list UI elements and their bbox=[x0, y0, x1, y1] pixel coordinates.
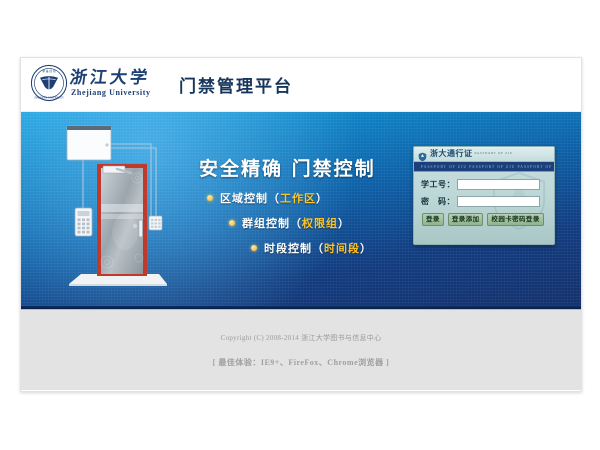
login-panel-subtitle: PASSPORT OF ZJU bbox=[475, 152, 514, 155]
shield-icon bbox=[418, 149, 427, 159]
login-add-button[interactable]: 登录添加 bbox=[448, 213, 484, 226]
site-footer: Copyright (C) 2008-2014 浙江大学图书与信息中心 [ 最佳… bbox=[21, 309, 581, 390]
feature-item-group-control: 群组控制（权限组） bbox=[229, 215, 372, 231]
feature-item-area-control: 区域控制（工作区） bbox=[207, 190, 372, 206]
password-label: 密 码： bbox=[421, 196, 457, 207]
svg-text:求 是 创 新: 求 是 创 新 bbox=[42, 69, 56, 73]
feature-accent: 工作区 bbox=[280, 190, 316, 206]
password-field[interactable] bbox=[457, 196, 540, 207]
feature-label: 区域控制（ bbox=[220, 190, 280, 206]
browser-compatibility-note: [ 最佳体验：IE9+、FireFox、Chrome浏览器 ] bbox=[213, 357, 390, 368]
feature-accent: 时间段 bbox=[324, 240, 360, 256]
login-form: 学工号： 密 码： 登录 登录添加 校园卡密码登录 bbox=[414, 172, 554, 226]
zju-seal-icon: 求 是 创 新 ZHEJIANG UNIVERSITY bbox=[30, 64, 68, 102]
banner-slogan: 安全精确 门禁控制 bbox=[199, 154, 376, 181]
dot-icon bbox=[251, 245, 257, 251]
feature-accent: 权限组 bbox=[302, 215, 338, 231]
logo-chinese-name: 浙江大学 bbox=[69, 69, 152, 86]
page-title: 门禁管理平台 bbox=[179, 72, 293, 97]
university-logo[interactable]: 求 是 创 新 ZHEJIANG UNIVERSITY 浙江大学 Zhejian… bbox=[30, 64, 151, 102]
feature-label: 群组控制（ bbox=[242, 215, 302, 231]
svg-text:ZHEJIANG UNIVERSITY: ZHEJIANG UNIVERSITY bbox=[34, 97, 64, 100]
banner-bottom-divider bbox=[21, 306, 581, 309]
login-panel-title: 浙大通行证 bbox=[430, 150, 473, 158]
feature-item-time-control: 时段控制（时间段） bbox=[251, 240, 372, 256]
dot-icon bbox=[229, 220, 235, 226]
login-button-row: 登录 登录添加 校园卡密码登录 bbox=[414, 213, 554, 226]
password-row: 密 码： bbox=[414, 196, 554, 207]
dot-icon bbox=[207, 195, 213, 201]
feature-tail: ） bbox=[360, 240, 372, 256]
passport-strip-text: PASSPORT OF ZJU PASSPORT OF ZJU PASSPORT… bbox=[414, 165, 554, 169]
login-panel-header: 浙大通行证 PASSPORT OF ZJU bbox=[414, 147, 554, 162]
logo-text-block: 浙江大学 Zhejiang University bbox=[68, 69, 151, 97]
copyright-text: Copyright (C) 2008-2014 浙江大学图书与信息中心 bbox=[221, 333, 382, 343]
feature-tail: ） bbox=[316, 190, 328, 206]
login-panel: 浙大通行证 PASSPORT OF ZJU PASSPORT OF ZJU PA… bbox=[413, 146, 555, 245]
feature-list: 区域控制（工作区） 群组控制（权限组） 时段控制（时间段） bbox=[207, 190, 372, 265]
logo-english-name: Zhejiang University bbox=[71, 89, 151, 97]
student-staff-id-row: 学工号： bbox=[414, 179, 554, 190]
access-control-door-illustration bbox=[55, 120, 185, 300]
login-button[interactable]: 登录 bbox=[422, 213, 444, 226]
feature-label: 时段控制（ bbox=[264, 240, 324, 256]
student-staff-id-field[interactable] bbox=[457, 179, 540, 190]
page-container: 求 是 创 新 ZHEJIANG UNIVERSITY 浙江大学 Zhejian… bbox=[20, 57, 582, 392]
feature-tail: ） bbox=[338, 215, 350, 231]
campus-card-login-button[interactable]: 校园卡密码登录 bbox=[487, 213, 543, 226]
passport-strip: PASSPORT OF ZJU PASSPORT OF ZJU PASSPORT… bbox=[414, 162, 554, 172]
site-header: 求 是 创 新 ZHEJIANG UNIVERSITY 浙江大学 Zhejian… bbox=[21, 58, 581, 112]
hero-banner: 安全精确 门禁控制 区域控制（工作区） 群组控制（权限组） 时段控制（时间段） bbox=[21, 112, 581, 309]
student-staff-id-label: 学工号： bbox=[421, 179, 457, 190]
